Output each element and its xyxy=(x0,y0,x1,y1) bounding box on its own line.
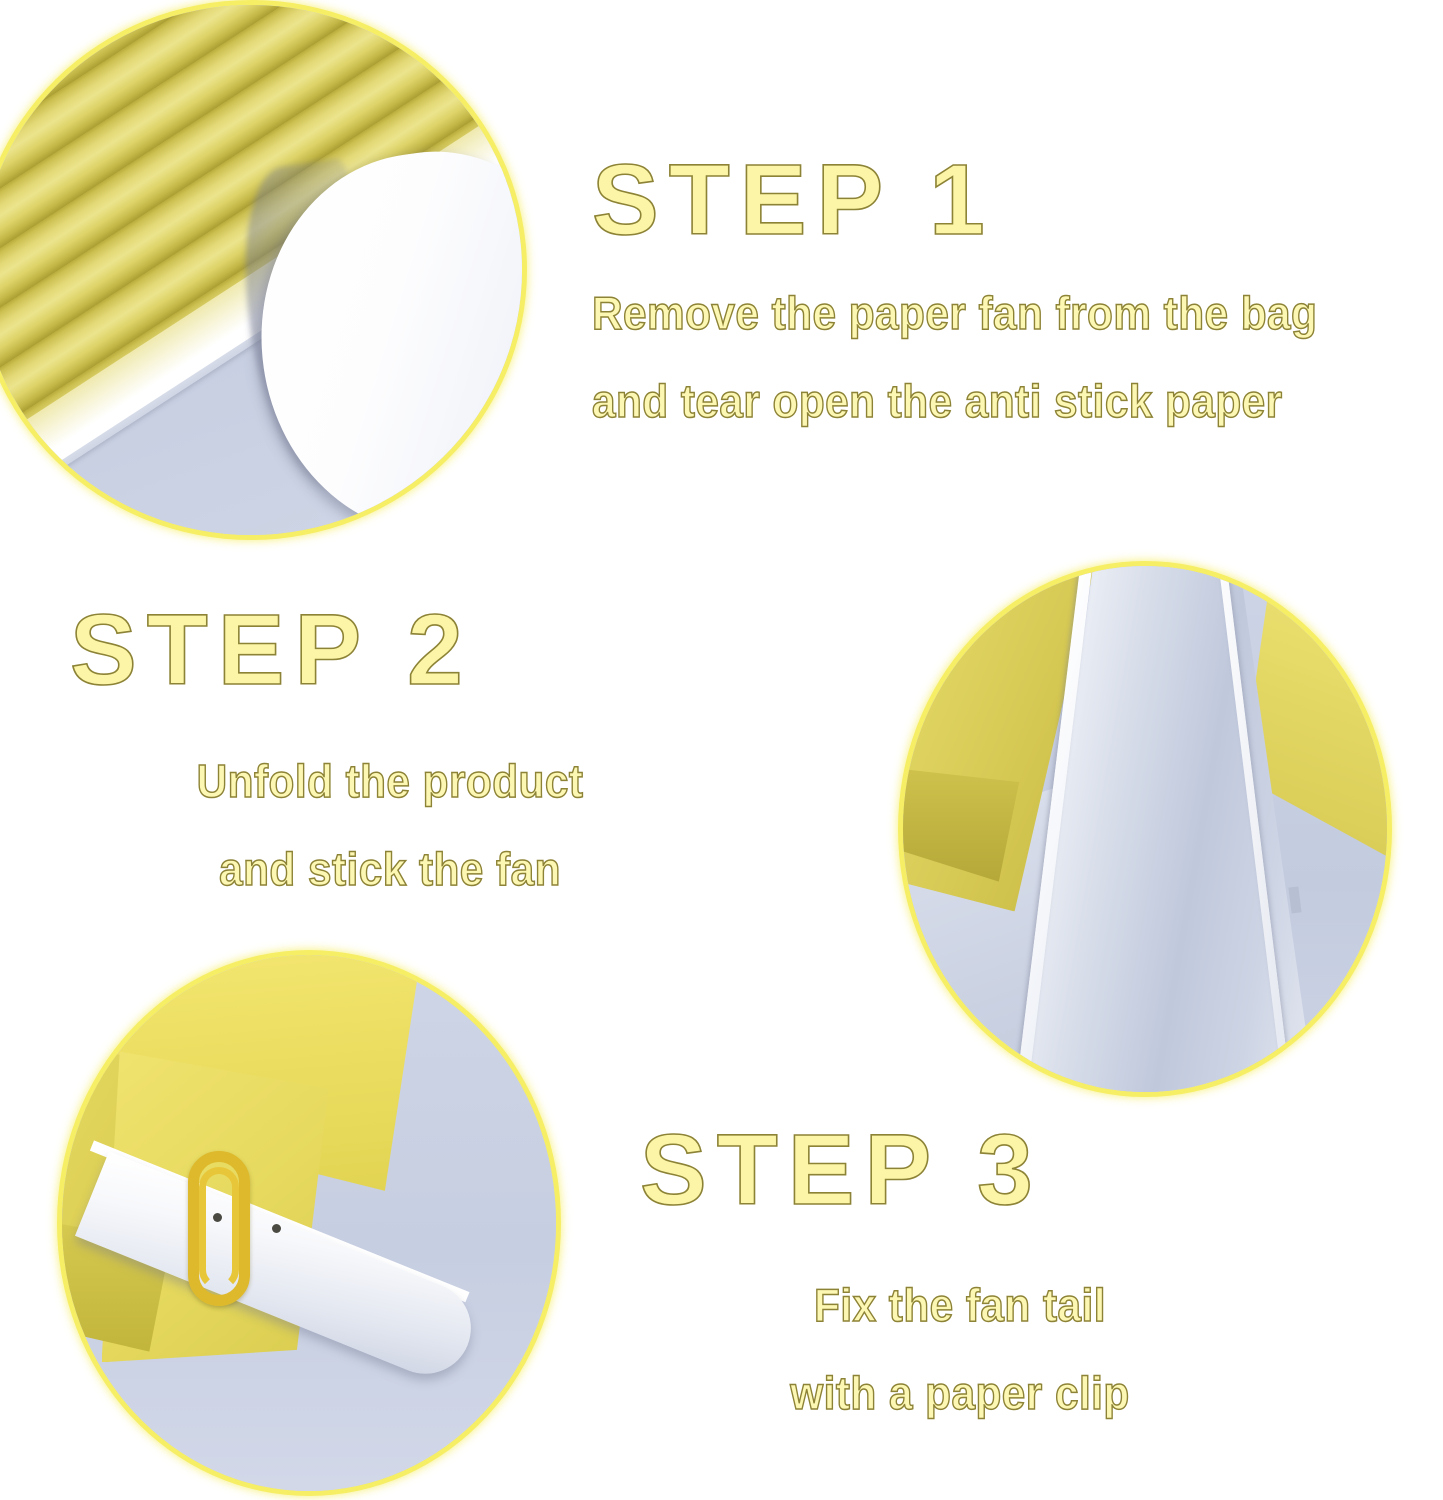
step-2-text-block: STEP 2 Unfold the product and stick the … xyxy=(70,600,710,892)
step-3-heading: STEP 3 xyxy=(640,1120,1280,1220)
step-2-photo xyxy=(903,566,1387,1092)
step-2-body: Unfold the product and stick the fan xyxy=(70,758,710,892)
step-2-photo-image xyxy=(903,566,1387,1092)
step-1-body: Remove the paper fan from the bag and te… xyxy=(592,290,1380,424)
step-2-line-2: and stick the fan xyxy=(96,846,685,892)
step-3-text-block: STEP 3 Fix the fan tail with a paper cli… xyxy=(640,1120,1280,1416)
step-1-line-1: Remove the paper fan from the bag xyxy=(592,290,1317,336)
step-1-text-block: STEP 1 Remove the paper fan from the bag… xyxy=(592,150,1380,424)
fan-tail-dot-right xyxy=(272,1224,281,1233)
step-1-photo-image xyxy=(0,5,522,535)
step-3-photo-image xyxy=(62,955,556,1491)
step-1-photo xyxy=(0,5,522,535)
step-3-line-2: with a paper clip xyxy=(666,1370,1255,1416)
step-3-photo xyxy=(62,955,556,1491)
step-2-line-1: Unfold the product xyxy=(96,758,685,804)
step-3-body: Fix the fan tail with a paper clip xyxy=(640,1282,1280,1416)
step-2-heading: STEP 2 xyxy=(70,600,710,700)
step-3-line-1: Fix the fan tail xyxy=(666,1282,1255,1328)
paper-clip-inner-loop xyxy=(199,1167,239,1290)
step-1-heading: STEP 1 xyxy=(592,150,1380,250)
step-1-line-2: and tear open the anti stick paper xyxy=(592,378,1317,424)
